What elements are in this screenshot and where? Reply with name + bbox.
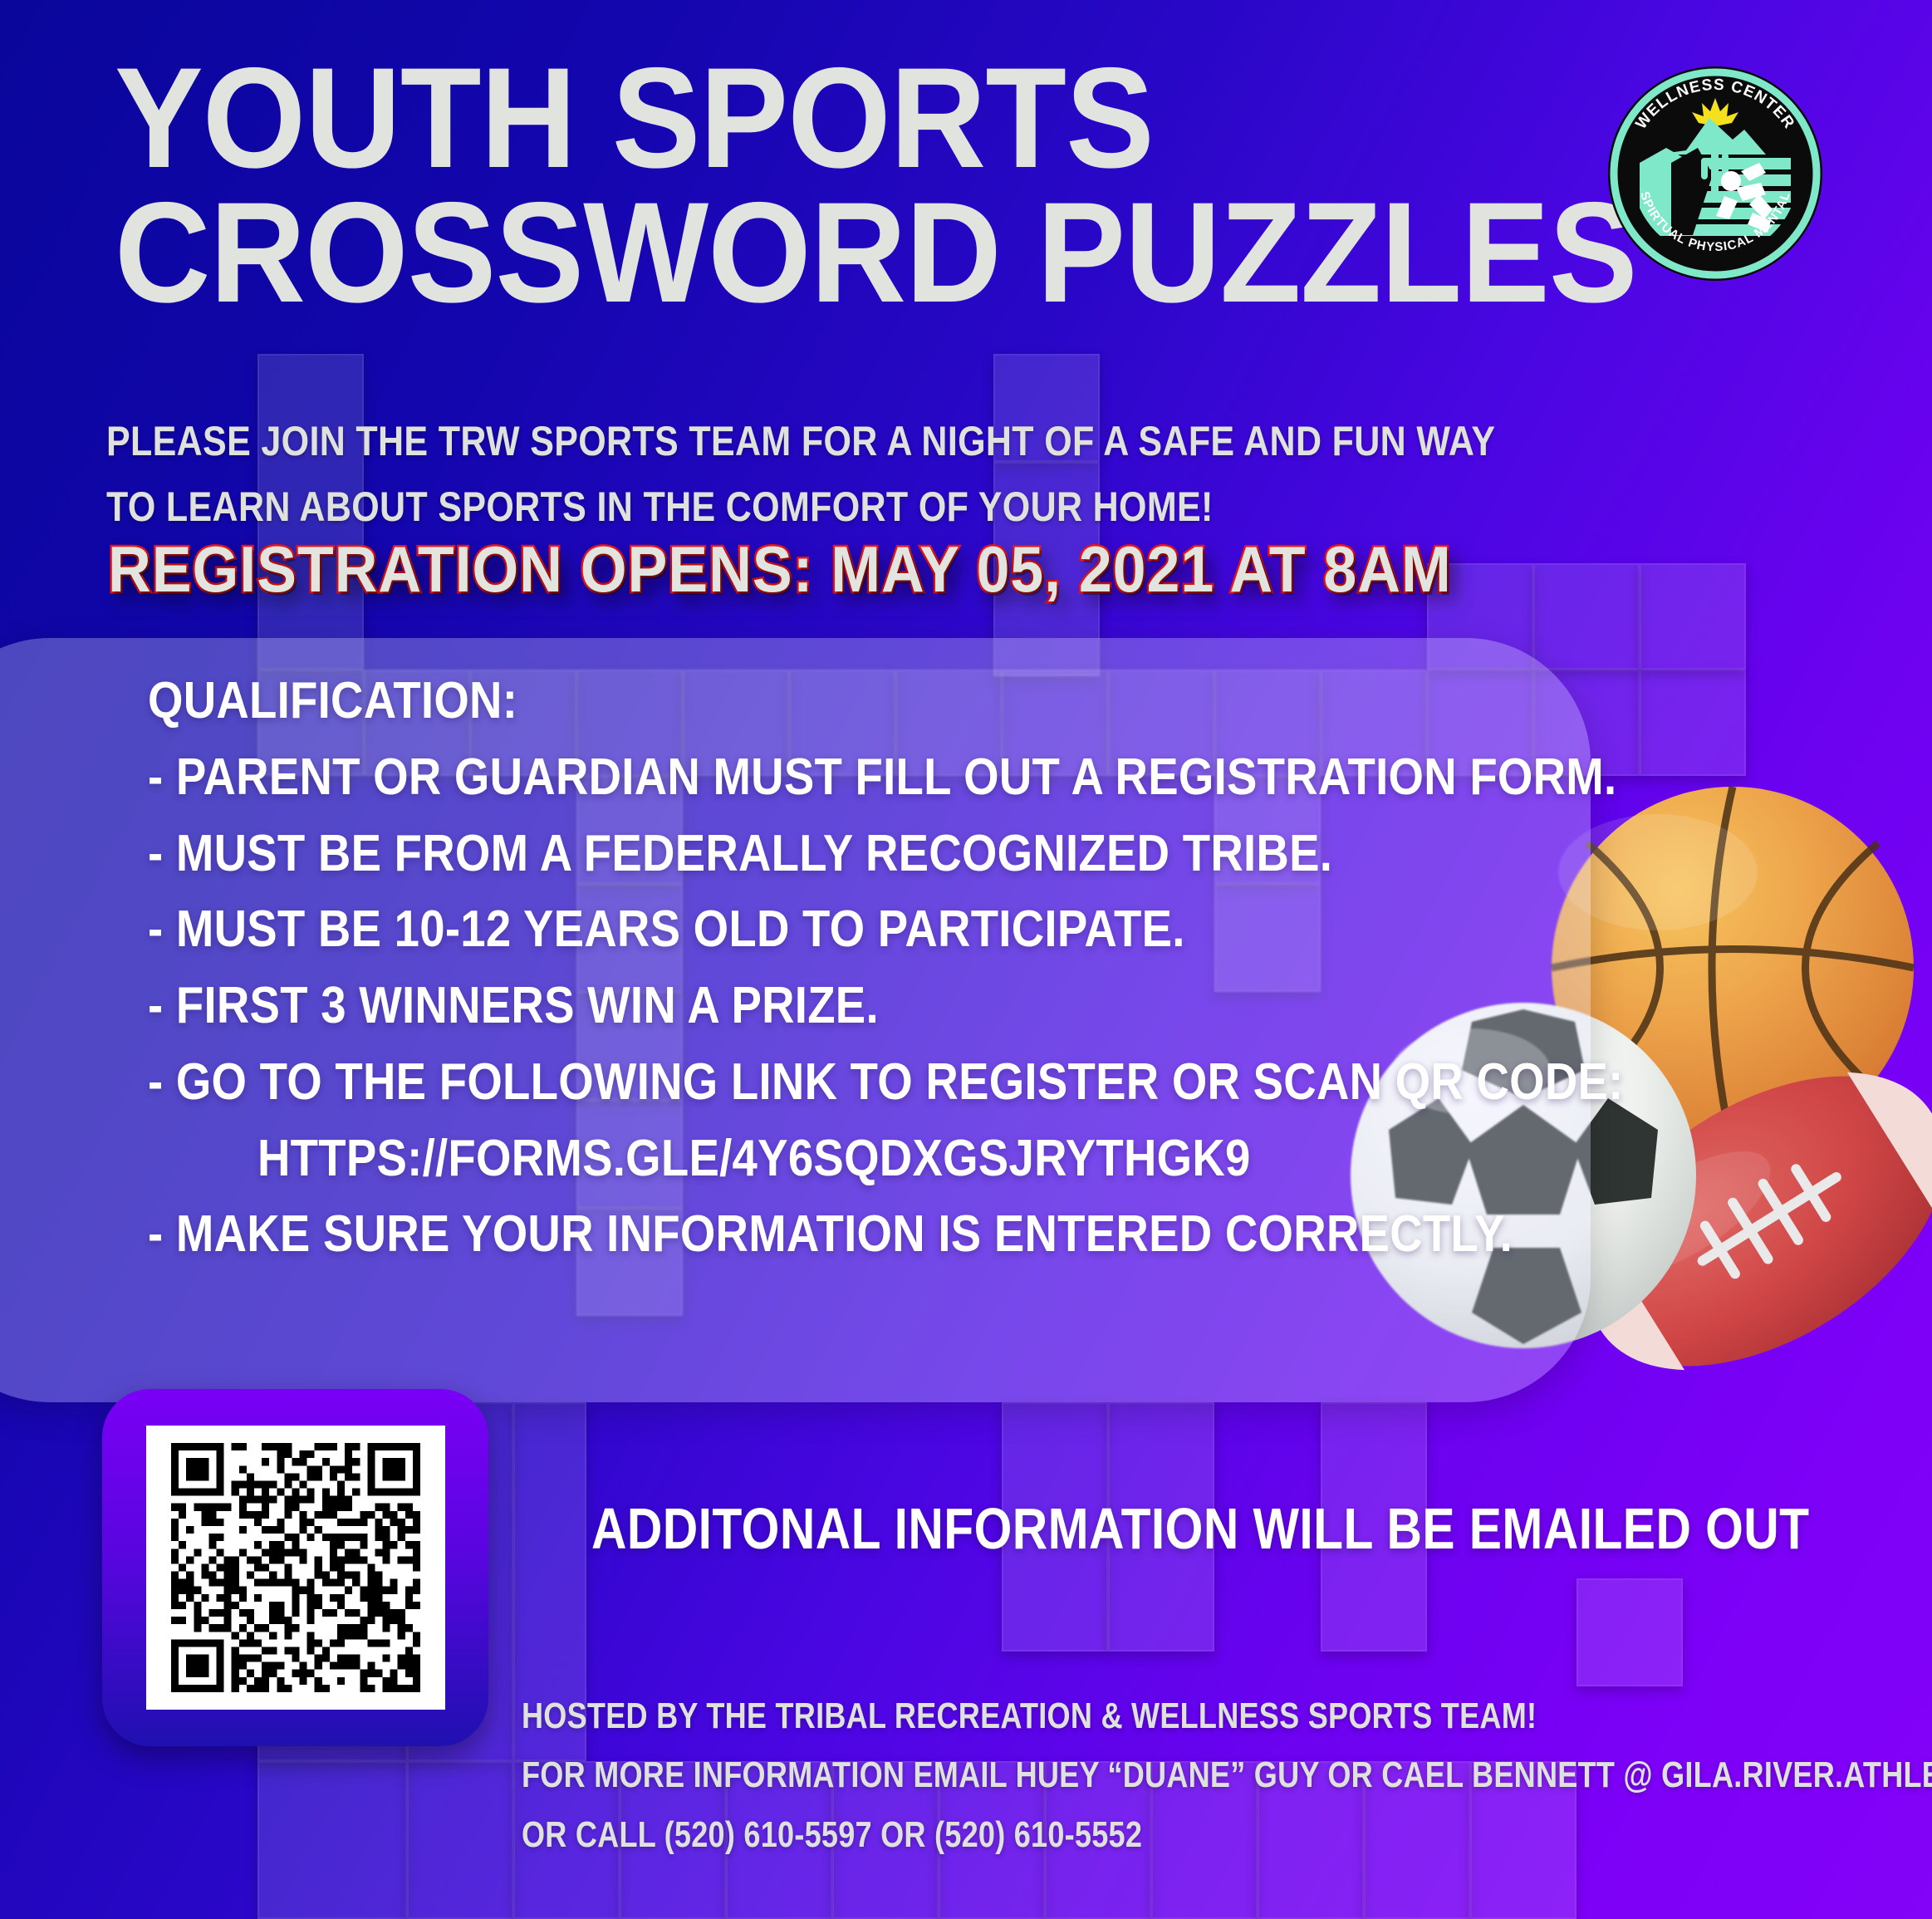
qualification-heading: QUALIFICATION: xyxy=(148,663,1332,739)
crossword-cell xyxy=(1640,563,1746,670)
crossword-cell xyxy=(1576,1578,1683,1686)
wellness-center-logo: WELLNESS CENTER SPIRTUAL PHYSICAL MENTAL xyxy=(1606,65,1824,282)
qualification-block: QUALIFICATION: - PARENT OR GUARDIAN MUST… xyxy=(148,663,1332,1273)
title-line-2: CROSSWORD PUZZLES xyxy=(115,186,1390,321)
page-title: YOUTH SPORTS CROSSWORD PUZZLES xyxy=(115,52,1390,320)
footer-line-hosted-by: HOSTED BY THE TRIBAL RECREATION & WELLNE… xyxy=(522,1686,1932,1745)
crossword-cell xyxy=(1533,563,1640,670)
qualification-item: - PARENT OR GUARDIAN MUST FILL OUT A REG… xyxy=(148,739,1332,816)
flyer-poster: YOUTH SPORTS CROSSWORD PUZZLES xyxy=(0,0,1932,1919)
intro-line-1: PLEASE JOIN THE TRW SPORTS TEAM FOR A NI… xyxy=(106,409,1495,474)
crossword-cell xyxy=(1640,670,1746,776)
intro-line-2: TO LEARN ABOUT SPORTS IN THE COMFORT OF … xyxy=(106,474,1495,540)
registration-qr-code[interactable] xyxy=(171,1443,420,1692)
qualification-item: - MUST BE FROM A FEDERALLY RECOGNIZED TR… xyxy=(148,816,1332,892)
qualification-item: - MAKE SURE YOUR INFORMATION IS ENTERED … xyxy=(148,1196,1332,1273)
registration-url[interactable]: HTTPS://FORMS.GLE/4Y6SQDXGSJRYTHGK9 xyxy=(148,1121,1332,1197)
footer-line-contact-email: FOR MORE INFORMATION EMAIL HUEY “DUANE” … xyxy=(522,1745,1932,1804)
qualification-item: - MUST BE 10-12 YEARS OLD TO PARTICIPATE… xyxy=(148,891,1332,968)
qr-code-card[interactable] xyxy=(102,1389,488,1746)
footer-text: HOSTED BY THE TRIBAL RECREATION & WELLNE… xyxy=(522,1686,1932,1864)
qualification-item: - GO TO THE FOLLOWING LINK TO REGISTER O… xyxy=(148,1044,1332,1121)
crossword-cell xyxy=(257,1761,407,1919)
qualification-item: - FIRST 3 WINNERS WIN A PRIZE. xyxy=(148,968,1332,1044)
footer-line-phone: OR CALL (520) 610-5597 OR (520) 610-5552 xyxy=(522,1805,1932,1864)
registration-banner: REGISTRATION OPENS: MAY 05, 2021 AT 8AM xyxy=(108,532,1452,607)
crossword-cell xyxy=(407,1761,513,1919)
additional-info-text: ADDITONAL INFORMATION WILL BE EMAILED OU… xyxy=(591,1495,1809,1562)
title-line-1: YOUTH SPORTS xyxy=(115,52,1390,186)
intro-text: PLEASE JOIN THE TRW SPORTS TEAM FOR A NI… xyxy=(106,409,1495,540)
qr-code-quiet-zone xyxy=(146,1426,445,1710)
